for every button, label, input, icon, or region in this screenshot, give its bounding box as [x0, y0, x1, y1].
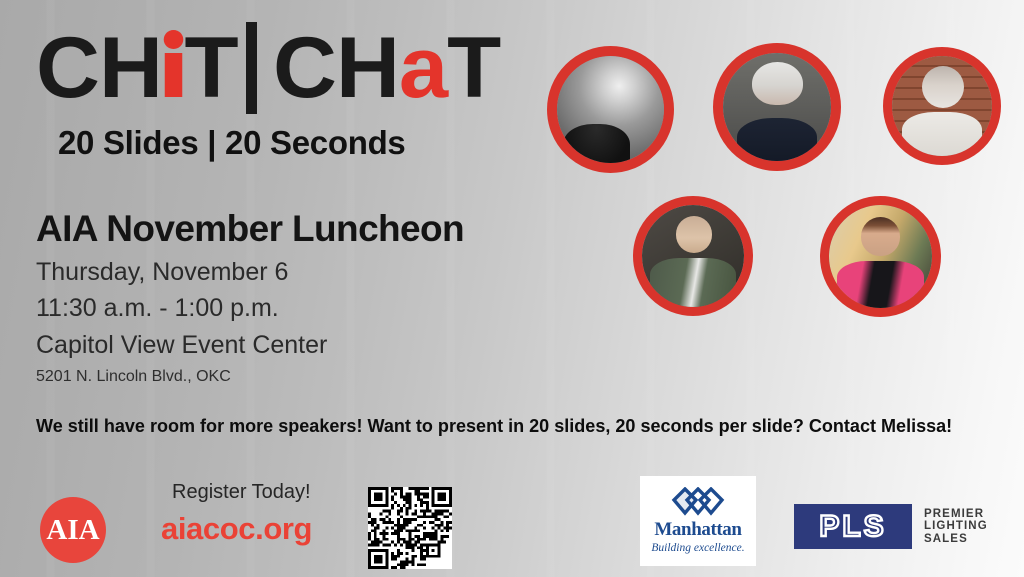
manhattan-wordmark: Manhattan	[654, 520, 741, 539]
event-title: AIA November Luncheon	[36, 208, 464, 250]
pls-line-premier: PREMIER	[924, 508, 988, 521]
register-url-link[interactable]: aiacoc.org	[161, 511, 312, 547]
event-venue: Capitol View Event Center	[36, 331, 327, 360]
logo-word-chit: CHT	[36, 25, 238, 111]
sponsor-logo-manhattan: Manhattan Building excellence.	[640, 476, 756, 566]
pls-badge: PLS	[794, 504, 912, 549]
speaker-portrait-2	[713, 43, 841, 171]
register-today-label: Register Today!	[172, 481, 311, 504]
logo-text-ch-1: CH	[36, 20, 162, 116]
logo-letter-i-red	[162, 25, 185, 111]
logo-letter-a-red: a	[399, 20, 447, 116]
logo-text-ch-2: CH	[273, 20, 399, 116]
logo-subtitle: 20 Slides | 20 Seconds	[58, 124, 405, 162]
logo-i-dot-icon	[164, 30, 184, 49]
pls-wordmark: PREMIER LIGHTING SALES	[924, 508, 988, 546]
manhattan-tagline: Building excellence.	[651, 543, 744, 555]
logo-word-chat: CHaT	[273, 25, 500, 111]
logo-divider-bar	[246, 22, 257, 114]
logo-i-stem-icon	[165, 53, 183, 97]
speaker-photo-5	[829, 205, 932, 308]
speaker-portrait-3	[883, 47, 1001, 165]
call-to-action-text: We still have room for more speakers! Wa…	[36, 415, 972, 437]
flyer-canvas: CHT CHaT 20 Slides | 20 Seconds AIA Nove…	[0, 0, 1024, 577]
manhattan-diamond-icon	[671, 487, 725, 517]
aia-logo: AIA	[40, 497, 106, 563]
chit-chat-logo: CHT CHaT	[36, 22, 493, 114]
event-time: 11:30 a.m. - 1:00 p.m.	[36, 294, 279, 323]
sponsor-logo-pls: PLS PREMIER LIGHTING SALES	[794, 504, 988, 549]
qr-code-canvas[interactable]	[368, 487, 452, 569]
qr-code[interactable]	[368, 487, 452, 569]
pls-badge-text: PLS	[819, 512, 886, 542]
speaker-photo-2	[723, 53, 831, 161]
logo-text-t-2: T	[447, 20, 500, 116]
speaker-portrait-4	[633, 196, 753, 316]
speaker-portrait-5	[820, 196, 941, 317]
logo-text-t-1: T	[185, 20, 238, 116]
speaker-photo-4	[642, 205, 744, 307]
pls-line-sales: SALES	[924, 533, 988, 546]
pls-line-lighting: LIGHTING	[924, 520, 988, 533]
speaker-photo-3	[892, 56, 992, 156]
aia-logo-text: AIA	[46, 516, 99, 545]
event-date: Thursday, November 6	[36, 258, 288, 287]
event-address: 5201 N. Lincoln Blvd., OKC	[36, 368, 231, 386]
speaker-portrait-1	[547, 46, 674, 173]
speaker-photo-1	[557, 56, 664, 163]
